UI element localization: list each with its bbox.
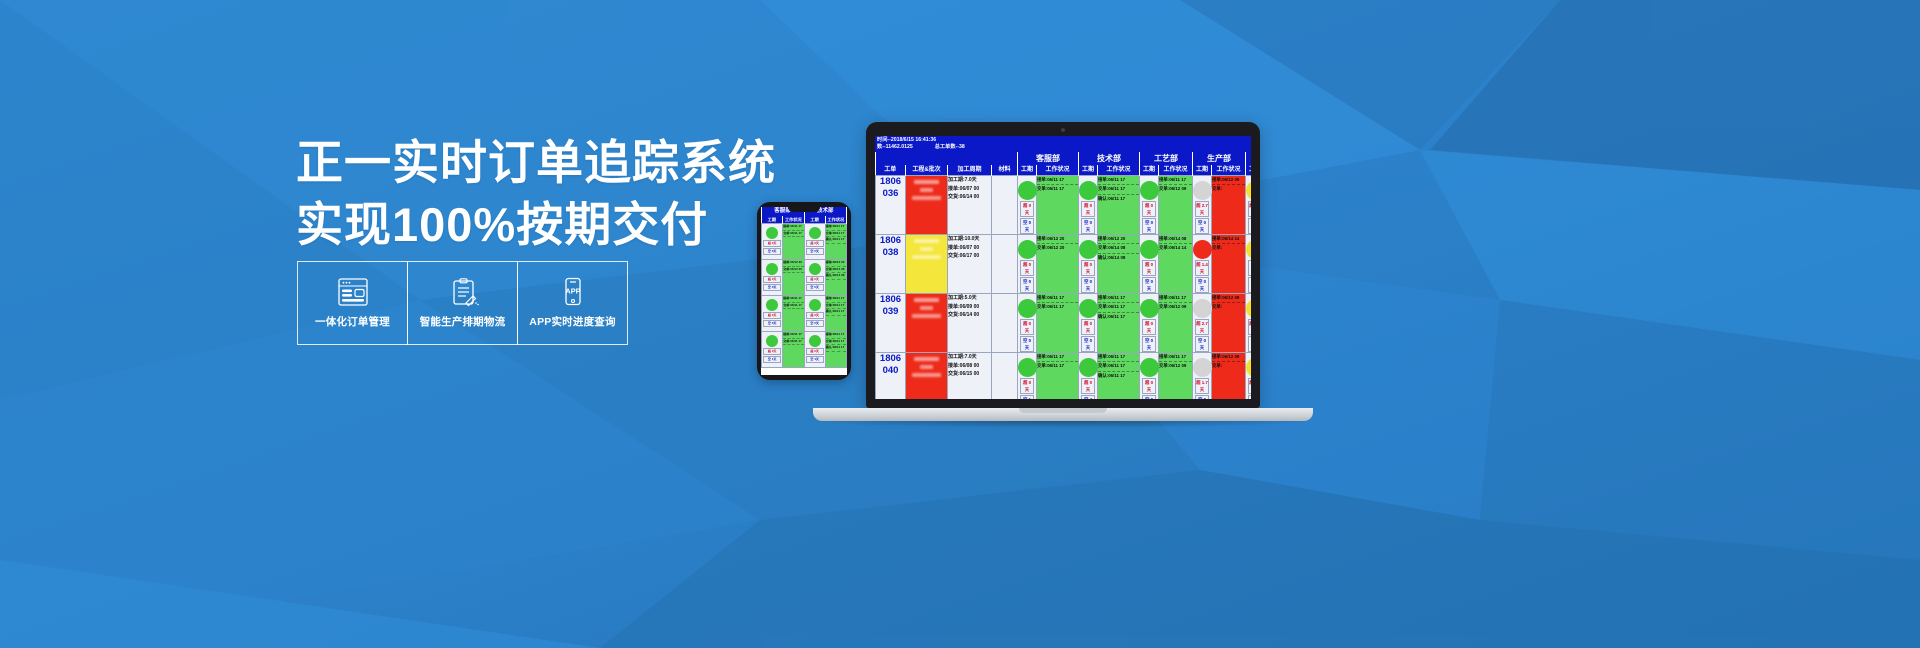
phone-idle-days-badge: 空 4天 [806, 356, 824, 363]
phone-status-dot [809, 263, 821, 275]
status-line-1: 交单:06/14 14 [1159, 244, 1192, 252]
work-status-cell-1[interactable]: 接单:06/12 20交单:06/14 08确认:06/14 08 [1098, 235, 1140, 294]
phone-idle-days-badge: 空 0天 [763, 320, 781, 327]
phone-over-days-badge: 超 0天 [763, 348, 781, 355]
status-line-2: 确认:06/11 17 [1098, 313, 1139, 321]
status-dot [1018, 240, 1037, 259]
status-line-0: 接单:06/12 09 [1212, 176, 1245, 185]
phone-status-line-1: 交单:06/12 20 [783, 267, 803, 274]
status-line-1: 交单: [1212, 185, 1245, 193]
idle-days-badge: 空 0天 [1020, 218, 1034, 234]
clipboard-schedule-icon [446, 277, 480, 307]
idle-days-badge: 空 0天 [1142, 336, 1156, 352]
idle-days-badge: 空 0天 [1248, 395, 1251, 399]
work-status-cell-3[interactable]: 接单:06/12 09交单: [1212, 353, 1246, 399]
duration-cell-2[interactable]: 超 0天空 0天 [1140, 353, 1159, 399]
phone-idle-days-badge: 空 0天 [763, 248, 781, 255]
order-no-line-2: 036 [876, 188, 905, 200]
feature-order-management[interactable]: 一体化订单管理 [297, 261, 408, 345]
idle-days-badge: 空 0天 [1020, 336, 1034, 352]
laptop-lid: 时间--2018/6/15 16:41:36 数--11462.0125 总工单… [866, 122, 1260, 408]
idle-days-badge: 空 0天 [1142, 395, 1156, 399]
phone-notch [788, 207, 820, 212]
project-batch-cell[interactable] [906, 353, 948, 399]
phone-status-line-1: 交单:06/11 17 [783, 339, 803, 346]
phone-status-line-1: 交单:06/11 17 [783, 303, 803, 310]
order-no-line-1: 1806 [876, 294, 905, 306]
idle-days-badge: 空 0天 [1195, 277, 1209, 293]
over-days-badge: 超 0天 [1081, 378, 1095, 394]
phone-over-days-badge: 超 0天 [763, 312, 781, 319]
work-status-cell-0[interactable]: 接单:06/11 17交单:06/11 17 [1037, 176, 1079, 235]
status-line-0: 接单:06/14 14 [1212, 235, 1245, 244]
phone-status-line-0: 接单:06/11 17 [826, 332, 846, 339]
over-days-badge: 超 0天 [1020, 201, 1034, 217]
phone-status-line-0: 接单:06/12 20 [783, 260, 803, 267]
dept-1-column-0[interactable]: 工期 [1079, 165, 1098, 176]
idle-days-badge: 空 0天 [1195, 218, 1209, 234]
laptop-shadow [803, 421, 1323, 428]
phone-over-days-badge: 超 0天 [763, 240, 781, 247]
column-header-1[interactable]: 工程&批次 [906, 165, 948, 176]
order-no-line-1: 1806 [876, 176, 905, 188]
phone-table-row[interactable]: 超 0天空 0天接单:06/11 17交单:06/11 17超 0天空 0天接单… [762, 296, 847, 332]
processing-cycle-cell[interactable]: 加工期:7.0天接单:06/07 00交货:06/14 00 [948, 176, 992, 235]
phone-over-days-badge: 超 0天 [806, 348, 824, 355]
duration-cell-0[interactable]: 超 0天空 0天 [1018, 176, 1037, 235]
cycle-line-2: 交货:06/15 00 [948, 370, 991, 379]
phone-column-header-row: 工期工作状况工期工作状况 [762, 216, 847, 224]
order-no-line-2: 040 [876, 365, 905, 377]
work-status-cell-2[interactable]: 接单:06/11 17交单:06/12 09 [1159, 353, 1193, 399]
status-line-0: 接单:06/11 17 [1159, 294, 1192, 303]
phone-status-dot [766, 299, 778, 311]
over-days-badge: 超 1.7天 [1248, 201, 1251, 217]
webcam-icon [1061, 128, 1065, 132]
status-line-1: 交单: [1212, 362, 1245, 370]
material-cell[interactable] [992, 353, 1018, 399]
duration-cell-3[interactable]: 超 2.7天空 0天 [1193, 176, 1212, 235]
column-header-0[interactable]: 工单 [876, 165, 906, 176]
table-row[interactable]: 1806036加工期:7.0天接单:06/07 00交货:06/14 00超 0… [876, 176, 1252, 235]
over-days-badge: 超 1.7天 [1195, 378, 1209, 394]
duration-cell-3[interactable]: 超 1.7天空 0天 [1193, 353, 1212, 399]
phone-status-line-0: 接单:06/11 17 [783, 332, 803, 339]
laptop-mockup: 时间--2018/6/15 16:41:36 数--11462.0125 总工单… [866, 122, 1323, 428]
status-dot [1018, 181, 1037, 200]
idle-days-badge: 空 0天 [1248, 336, 1251, 352]
status-line-0: 接单:06/14 08 [1159, 235, 1192, 244]
dept-0-column-1[interactable]: 工作状况 [1037, 165, 1079, 176]
phone-status-dot [809, 227, 821, 239]
phone-work-status-cell-1[interactable]: 接单:06/12 20交单:06/14 08确认:06/14 08 [825, 260, 846, 296]
phone-idle-days-badge: 空 0天 [806, 320, 824, 327]
order-number-cell[interactable]: 1806039 [876, 294, 906, 353]
phone-idle-days-badge: 空 0天 [806, 248, 824, 255]
phone-status-line-0: 接单:06/11 17 [783, 224, 803, 231]
over-days-badge: 超 0天 [1081, 201, 1095, 217]
phone-work-status-cell-1[interactable]: 接单:06/11 17交单:06/11 17确认:06/11 17 [825, 224, 846, 260]
order-number-cell[interactable]: 1806038 [876, 235, 906, 294]
status-line-1: 交单:06/11 17 [1098, 362, 1139, 371]
status-line-1: 交单:06/12 09 [1159, 185, 1192, 193]
topbar-time: 时间--2018/6/15 16:41:36 [877, 137, 1249, 144]
idle-days-badge: 空 0天 [1248, 218, 1251, 234]
status-line-0: 接单:06/11 17 [1159, 176, 1192, 185]
phone-status-line-2: 确认:06/11 17 [826, 309, 846, 316]
order-no-line-1: 1806 [876, 353, 905, 365]
status-dot [1018, 299, 1037, 318]
idle-days-badge: 空 0天 [1195, 395, 1209, 399]
processing-cycle-cell[interactable]: 加工期:5.0天接单:06/09 00交货:06/14 00 [948, 294, 992, 353]
status-line-1: 交单: [1212, 303, 1245, 311]
duration-cell-2[interactable]: 超 0天空 0天 [1140, 294, 1159, 353]
phone-status-dot [766, 335, 778, 347]
feature-label: 智能生产排期物流 [420, 314, 506, 329]
column-header-2[interactable]: 加工周期 [948, 165, 992, 176]
phone-status-dot [766, 263, 778, 275]
phone-status-line-0: 接单:06/11 17 [826, 224, 846, 231]
duration-cell-4[interactable]: 超 0.7天空 0天 [1246, 353, 1252, 399]
dept-1-column-1[interactable]: 工作状况 [1098, 165, 1140, 176]
phone-status-dot [809, 299, 821, 311]
phone-work-status-cell-0[interactable]: 接单:06/11 17交单:06/11 17 [783, 296, 804, 332]
status-line-1: 交单:06/11 17 [1098, 303, 1139, 312]
status-line-0: 接单:06/11 17 [1037, 353, 1078, 362]
over-days-badge: 超 1.4天 [1195, 260, 1209, 276]
dept-3-column-0[interactable]: 工期 [1193, 165, 1212, 176]
feature-box-group: 一体化订单管理 智能生产排期物流 APP APP实时进度查询 [297, 261, 627, 345]
work-status-cell-1[interactable]: 接单:06/11 17交单:06/11 17确认:06/11 17 [1098, 176, 1140, 235]
phone-status-line-1: 交单:06/11 17 [783, 231, 803, 238]
status-line-2: 确认:06/11 17 [1098, 195, 1139, 203]
dept-0-column-0[interactable]: 工期 [1018, 165, 1037, 176]
order-number-cell[interactable]: 1806040 [876, 353, 906, 399]
phone-duration-cell-0[interactable]: 超 0天空 0天 [762, 260, 783, 296]
phone-status-line-2: 确认:06/14 08 [826, 273, 846, 280]
dept-4-column-0[interactable]: 工期 [1246, 165, 1252, 176]
phone-dept-0-column-0[interactable]: 工期 [762, 216, 783, 224]
duration-cell-0[interactable]: 超 0天空 1天 [1018, 353, 1037, 399]
laptop-base [813, 408, 1313, 421]
phone-table-body[interactable]: 超 0天空 0天接单:06/11 17交单:06/11 17超 0天空 0天接单… [762, 224, 847, 368]
topbar-count: 数--11462.0125 [877, 144, 913, 151]
cycle-line-0: 加工期:7.0天 [948, 176, 991, 185]
order-no-line-1: 1806 [876, 235, 905, 247]
duration-cell-1[interactable]: 超 0天空 0天 [1079, 294, 1098, 353]
work-status-cell-1[interactable]: 接单:06/11 17交单:06/11 17确认:06/11 17 [1098, 294, 1140, 353]
phone-duration-cell-0[interactable]: 超 0天空 1天 [762, 332, 783, 368]
status-dot [1246, 181, 1251, 200]
status-line-1: 交单:06/12 09 [1159, 362, 1192, 370]
phone-over-days-badge: 超 0天 [806, 312, 824, 319]
feature-label: APP实时进度查询 [529, 314, 615, 329]
status-line-0: 接单:06/11 17 [1098, 353, 1139, 362]
status-line-1: 交单:06/11 17 [1037, 303, 1078, 311]
phone-idle-days-badge: 空 0天 [763, 284, 781, 291]
work-status-cell-3[interactable]: 接单:06/12 09交单: [1212, 176, 1246, 235]
status-dot [1246, 299, 1251, 318]
status-dot [1079, 299, 1098, 318]
over-days-badge: 超 2.7天 [1195, 201, 1209, 217]
status-line-0: 接单:06/12 09 [1212, 353, 1245, 362]
duration-cell-1[interactable]: 超 0天空 4天 [1079, 353, 1098, 399]
project-batch-cell[interactable] [906, 235, 948, 294]
phone-status-dot [809, 335, 821, 347]
cycle-line-2: 交货:06/14 00 [948, 193, 991, 202]
phone-dept-0-column-1[interactable]: 工作状况 [783, 216, 804, 224]
duration-cell-4[interactable]: 超 1.7天空 0天 [1246, 176, 1252, 235]
status-line-1: 交单:06/14 08 [1098, 244, 1139, 253]
dept-header-3[interactable]: 生产部 [1193, 152, 1246, 165]
phone-status-line-0: 接单:06/11 17 [826, 296, 846, 303]
status-line-1: 交单:06/11 17 [1037, 362, 1078, 370]
status-line-0: 接单:06/12 20 [1037, 235, 1078, 244]
phone-over-days-badge: 超 0天 [806, 276, 824, 283]
phone-screen[interactable]: 客服部技术部 工期工作状况工期工作状况 超 0天空 0天接单:06/11 17交… [761, 207, 847, 375]
table-row[interactable]: 1806040加工期:7.0天接单:06/08 00交货:06/15 00超 0… [876, 353, 1252, 399]
dept-header-2[interactable]: 工艺部 [1140, 152, 1193, 165]
status-line-1: 交单:06/12 20 [1037, 244, 1078, 252]
idle-days-badge: 空 0天 [1020, 277, 1034, 293]
dashboard-topbar: 时间--2018/6/15 16:41:36 数--11462.0125 总工单… [875, 136, 1251, 152]
order-tracking-table[interactable]: 客服部技术部工艺部生产部跟单部 工单工程&批次加工周期材料工期工作状况工期工作状… [875, 152, 1251, 399]
work-status-cell-0[interactable]: 接单:06/12 20交单:06/12 20 [1037, 235, 1079, 294]
status-dot [1140, 240, 1159, 259]
cycle-line-1: 接单:06/07 00 [948, 244, 991, 253]
work-status-cell-3[interactable]: 接单:06/14 14交单: [1212, 235, 1246, 294]
column-header-row: 工单工程&批次加工周期材料工期工作状况工期工作状况工期工作状况工期工作状况工期工… [876, 165, 1252, 176]
phone-work-status-cell-1[interactable]: 接单:06/11 17交单:06/11 17确认:06/11 17 [825, 332, 846, 368]
over-days-badge: 超 2.7天 [1195, 319, 1209, 335]
phone-duration-cell-1[interactable]: 超 0天空 0天 [804, 260, 825, 296]
over-days-badge: 超 0天 [1142, 201, 1156, 217]
work-status-cell-2[interactable]: 接单:06/11 17交单:06/12 09 [1159, 294, 1193, 353]
order-no-line-2: 038 [876, 247, 905, 259]
mobile-app-icon: APP [556, 277, 590, 307]
over-days-badge: 超 0天 [1142, 378, 1156, 394]
work-status-cell-2[interactable]: 接单:06/11 17交单:06/12 09 [1159, 176, 1193, 235]
project-batch-cell[interactable] [906, 294, 948, 353]
status-line-1: 交单:06/11 17 [1098, 185, 1139, 194]
phone-status-line-0: 接单:06/11 17 [783, 296, 803, 303]
cycle-line-1: 接单:06/08 00 [948, 362, 991, 371]
idle-days-badge: 空 0天 [1142, 277, 1156, 293]
phone-table-row[interactable]: 超 0天空 0天接单:06/11 17交单:06/11 17超 0天空 0天接单… [762, 224, 847, 260]
work-status-cell-0[interactable]: 接单:06/11 17交单:06/11 17 [1037, 294, 1079, 353]
work-status-cell-2[interactable]: 接单:06/14 08交单:06/14 14 [1159, 235, 1193, 294]
over-days-badge: 超 0天 [1020, 319, 1034, 335]
material-cell[interactable] [992, 235, 1018, 294]
cycle-line-0: 加工期:5.0天 [948, 294, 991, 303]
status-dot [1079, 358, 1098, 377]
table-body[interactable]: 1806036加工期:7.0天接单:06/07 00交货:06/14 00超 0… [876, 176, 1252, 399]
dept-2-column-1[interactable]: 工作状况 [1159, 165, 1193, 176]
status-line-0: 接单:06/11 17 [1159, 353, 1192, 362]
phone-order-table[interactable]: 客服部技术部 工期工作状况工期工作状况 超 0天空 0天接单:06/11 17交… [761, 207, 847, 368]
table-head: 客服部技术部工艺部生产部跟单部 工单工程&批次加工周期材料工期工作状况工期工作状… [876, 152, 1252, 176]
duration-cell-2[interactable]: 超 0天空 0天 [1140, 176, 1159, 235]
phone-over-days-badge: 超 0天 [763, 276, 781, 283]
over-days-badge: 超 0天 [1142, 319, 1156, 335]
phone-idle-days-badge: 空 0天 [806, 284, 824, 291]
duration-cell-1[interactable]: 超 0天空 0天 [1079, 176, 1098, 235]
order-management-icon [336, 277, 370, 307]
work-status-cell-1[interactable]: 接单:06/11 17交单:06/11 17确认:06/11 17 [1098, 353, 1140, 399]
status-line-0: 接单:06/12 20 [1098, 235, 1139, 244]
phone-status-line-0: 接单:06/12 20 [826, 260, 846, 267]
status-dot [1079, 240, 1098, 259]
table-row[interactable]: 1806038加工期:10.0天接单:06/07 00交货:06/17 00超 … [876, 235, 1252, 294]
dept-2-column-0[interactable]: 工期 [1140, 165, 1159, 176]
idle-days-badge: 空 4天 [1081, 395, 1095, 399]
status-dot [1193, 358, 1212, 377]
dept-header-4[interactable]: 跟单部 [1246, 152, 1252, 165]
idle-days-badge: 空 0天 [1248, 277, 1251, 293]
phone-dept-1-column-1[interactable]: 工作状况 [825, 216, 846, 224]
processing-cycle-cell[interactable]: 加工期:10.0天接单:06/07 00交货:06/17 00 [948, 235, 992, 294]
status-dot [1246, 240, 1251, 259]
cycle-line-2: 交货:06/14 00 [948, 311, 991, 320]
work-status-cell-3[interactable]: 接单:06/12 09交单: [1212, 294, 1246, 353]
svg-text:APP: APP [565, 287, 580, 296]
status-line-0: 接单:06/12 09 [1212, 294, 1245, 303]
status-dot [1193, 240, 1212, 259]
dept-header-1[interactable]: 技术部 [1079, 152, 1140, 165]
over-days-badge: 超 1.7天 [1248, 319, 1251, 335]
dept-header-0[interactable]: 客服部 [1018, 152, 1079, 165]
phone-duration-cell-1[interactable]: 超 0天空 0天 [804, 296, 825, 332]
status-line-2: 确认:06/14 08 [1098, 254, 1139, 262]
table-row[interactable]: 1806039加工期:5.0天接单:06/09 00交货:06/14 00超 0… [876, 294, 1252, 353]
cycle-line-1: 接单:06/09 00 [948, 303, 991, 312]
status-line-0: 接单:06/11 17 [1098, 176, 1139, 185]
status-dot [1018, 358, 1037, 377]
material-cell[interactable] [992, 294, 1018, 353]
status-line-0: 接单:06/11 17 [1037, 294, 1078, 303]
status-line-0: 接单:06/11 17 [1098, 294, 1139, 303]
phone-over-days-badge: 超 0天 [806, 240, 824, 247]
material-cell[interactable] [992, 176, 1018, 235]
feature-production-schedule[interactable]: 智能生产排期物流 [407, 261, 518, 345]
order-number-cell[interactable]: 1806036 [876, 176, 906, 235]
status-dot [1140, 299, 1159, 318]
status-line-1: 交单:06/12 09 [1159, 303, 1192, 311]
idle-days-badge: 空 0天 [1195, 336, 1209, 352]
status-line-0: 接单:06/11 17 [1037, 176, 1078, 185]
over-days-badge: 超 0天 [1020, 260, 1034, 276]
feature-label: 一体化订单管理 [315, 314, 390, 329]
dept-header-spacer [876, 152, 1018, 165]
status-dot [1193, 299, 1212, 318]
phone-duration-cell-1[interactable]: 超 0天空 4天 [804, 332, 825, 368]
idle-days-badge: 空 0天 [1081, 277, 1095, 293]
over-days-badge: 超 0天 [1081, 260, 1095, 276]
status-dot [1193, 181, 1212, 200]
status-line-2: 确认:06/11 17 [1098, 372, 1139, 380]
dept-header-row: 客服部技术部工艺部生产部跟单部 [876, 152, 1252, 165]
status-line-1: 交单: [1212, 244, 1245, 252]
phone-duration-cell-1[interactable]: 超 0天空 0天 [804, 224, 825, 260]
status-dot [1140, 358, 1159, 377]
cycle-line-1: 接单:06/07 00 [948, 185, 991, 194]
phone-work-status-cell-0[interactable]: 接单:06/12 20交单:06/12 20 [783, 260, 804, 296]
phone-duration-cell-0[interactable]: 超 0天空 0天 [762, 296, 783, 332]
phone-idle-days-badge: 空 1天 [763, 356, 781, 363]
over-days-badge: 超 0.7天 [1248, 378, 1251, 394]
order-no-line-2: 039 [876, 306, 905, 318]
phone-status-line-2: 确认:06/11 17 [826, 237, 846, 244]
duration-cell-0[interactable]: 超 0天空 0天 [1018, 294, 1037, 353]
cycle-line-2: 交货:06/17 00 [948, 252, 991, 261]
feature-app-progress[interactable]: APP APP实时进度查询 [517, 261, 628, 345]
cycle-line-0: 加工期:10.0天 [948, 235, 991, 244]
over-days-badge: 超 1天 [1248, 260, 1251, 276]
cycle-line-0: 加工期:7.0天 [948, 353, 991, 362]
over-days-badge: 超 0天 [1081, 319, 1095, 335]
duration-cell-4[interactable]: 超 1天空 0天 [1246, 235, 1252, 294]
topbar-total-orders: 总工单数--38 [935, 144, 965, 151]
dept-3-column-1[interactable]: 工作状况 [1212, 165, 1246, 176]
phone-table-row[interactable]: 超 0天空 1天接单:06/11 17交单:06/11 17超 0天空 4天接单… [762, 332, 847, 368]
idle-days-badge: 空 0天 [1081, 336, 1095, 352]
work-status-cell-0[interactable]: 接单:06/11 17交单:06/11 17 [1037, 353, 1079, 399]
status-dot [1140, 181, 1159, 200]
duration-cell-4[interactable]: 超 1.7天空 0天 [1246, 294, 1252, 353]
duration-cell-2[interactable]: 超 0天空 0天 [1140, 235, 1159, 294]
idle-days-badge: 空 0天 [1081, 218, 1095, 234]
phone-status-line-2: 确认:06/11 17 [826, 345, 846, 352]
phone-work-status-cell-0[interactable]: 接单:06/11 17交单:06/11 17 [783, 224, 804, 260]
over-days-badge: 超 0天 [1020, 378, 1034, 394]
column-header-3[interactable]: 材料 [992, 165, 1018, 176]
phone-duration-cell-0[interactable]: 超 0天空 0天 [762, 224, 783, 260]
duration-cell-1[interactable]: 超 0天空 0天 [1079, 235, 1098, 294]
phone-body: 客服部技术部 工期工作状况工期工作状况 超 0天空 0天接单:06/11 17交… [757, 202, 851, 380]
status-dot [1079, 181, 1098, 200]
phone-work-status-cell-1[interactable]: 接单:06/11 17交单:06/11 17确认:06/11 17 [825, 296, 846, 332]
idle-days-badge: 空 1天 [1020, 395, 1034, 399]
over-days-badge: 超 0天 [1142, 260, 1156, 276]
idle-days-badge: 空 0天 [1142, 218, 1156, 234]
duration-cell-0[interactable]: 超 0天空 0天 [1018, 235, 1037, 294]
status-line-1: 交单:06/11 17 [1037, 185, 1078, 193]
phone-mockup: 客服部技术部 工期工作状况工期工作状况 超 0天空 0天接单:06/11 17交… [757, 202, 851, 380]
duration-cell-3[interactable]: 超 1.4天空 0天 [1193, 235, 1212, 294]
status-dot [1246, 358, 1251, 377]
processing-cycle-cell[interactable]: 加工期:7.0天接单:06/08 00交货:06/15 00 [948, 353, 992, 399]
phone-status-dot [766, 227, 778, 239]
project-batch-cell[interactable] [906, 176, 948, 235]
duration-cell-3[interactable]: 超 2.7天空 0天 [1193, 294, 1212, 353]
phone-table-row[interactable]: 超 0天空 0天接单:06/12 20交单:06/12 20超 0天空 0天接单… [762, 260, 847, 296]
laptop-screen[interactable]: 时间--2018/6/15 16:41:36 数--11462.0125 总工单… [875, 136, 1251, 399]
phone-dept-1-column-0[interactable]: 工期 [804, 216, 825, 224]
phone-work-status-cell-0[interactable]: 接单:06/11 17交单:06/11 17 [783, 332, 804, 368]
